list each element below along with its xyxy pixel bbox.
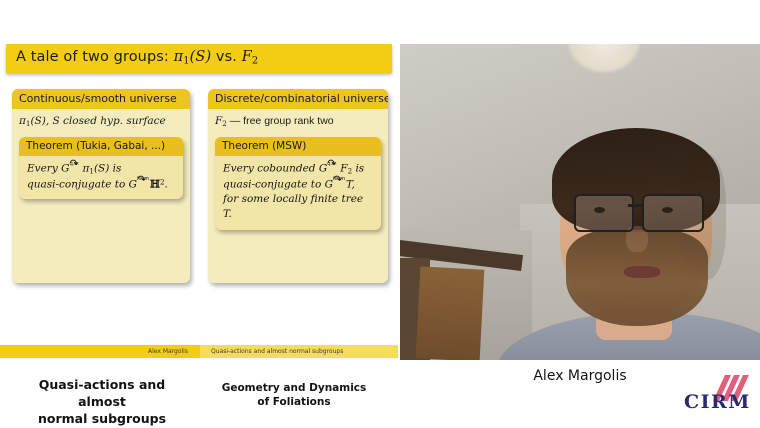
speaker-name-caption: Alex Margolis [440,368,720,384]
theorem-msw-header: Theorem (MSW) [215,137,381,156]
slide-title-bar: A tale of two groups: π1(S) vs. F2 [6,44,392,73]
event-title-caption: Geometry and Dynamics of Foliations [205,381,383,409]
cirm-logo-svg: CIRM [683,375,749,415]
video-wooden-door [416,266,485,360]
group-action-arrow-isom-icon: isom↷ [137,177,150,188]
slide-footer-talk-title: Quasi-actions and almost normal subgroup… [211,348,343,355]
theorem-tukia-line2: quasi-conjugate to Gisom↷ℍ2. [27,177,175,193]
theorem-msw-line1: Every cobounded Gq.a.↷F2 is [223,161,373,177]
speaker-video-feed[interactable] [400,44,760,360]
slide-title-vs: vs. [211,49,241,65]
cirm-logo: CIRM [683,375,749,415]
group-action-arrow-qa-icon: q.a.↷ [70,161,83,172]
continuous-universe-header: Continuous/smooth universe [12,89,190,109]
slide-panel: A tale of two groups: π1(S) vs. F2 Conti… [0,0,398,360]
video-speaker-eye-right [662,207,673,213]
cirm-logo-text: CIRM [684,391,749,413]
continuous-universe-block: Continuous/smooth universe π1(S), S clos… [12,89,190,283]
theorem-tukia-gabai-header: Theorem (Tukia, Gabai, ...) [19,137,183,156]
continuous-universe-line1: π1(S), S closed hyp. surface [19,115,183,128]
video-speaker-eye-left [594,207,605,213]
slide-footer-author: Alex Margolis [148,348,188,355]
theorem-tukia-line1: Every Gq.a.↷π1(S) is [27,161,175,177]
discrete-universe-block: Discrete/combinatorial universe F2 — fre… [208,89,388,283]
discrete-universe-body: F2 — free group rank two Theorem (MSW) E… [208,109,388,238]
continuous-universe-body: π1(S), S closed hyp. surface Theorem (Tu… [12,109,190,207]
slide-title-f2: F2 [242,49,259,65]
theorem-tukia-gabai-body: Every Gq.a.↷π1(S) is quasi-conjugate to … [19,156,183,199]
video-glasses-left-lens [574,194,634,232]
theorem-msw-line3: for some locally finite tree T. [223,192,373,222]
discrete-universe-header: Discrete/combinatorial universe [208,89,388,109]
slide-title-pi: π1(S) [174,49,212,65]
theorem-msw-line2: quasi-conjugate to Gisom↷T, [223,177,373,193]
video-glasses-bridge [628,204,644,207]
video-glasses-right-lens [642,194,704,232]
theorem-tukia-gabai: Theorem (Tukia, Gabai, ...) Every Gq.a.↷… [19,137,183,199]
group-action-arrow-isom-icon: isom↷ [333,177,346,188]
talk-title-caption: Quasi-actions and almost normal subgroup… [14,377,190,428]
slide-title: A tale of two groups: π1(S) vs. F2 [16,49,258,66]
video-speaker-mouth [624,266,660,278]
group-action-arrow-qa-icon: q.a.↷ [327,161,340,172]
slide-footer-bar: Alex Margolis Quasi-actions and almost n… [0,345,398,358]
slide-title-prefix: A tale of two groups: [16,49,174,65]
presentation-recording-frame: A tale of two groups: π1(S) vs. F2 Conti… [0,0,760,427]
theorem-msw: Theorem (MSW) Every cobounded Gq.a.↷F2 i… [215,137,381,230]
theorem-msw-body: Every cobounded Gq.a.↷F2 is quasi-conjug… [215,156,381,230]
discrete-universe-line1: F2 — free group rank two [215,115,381,128]
